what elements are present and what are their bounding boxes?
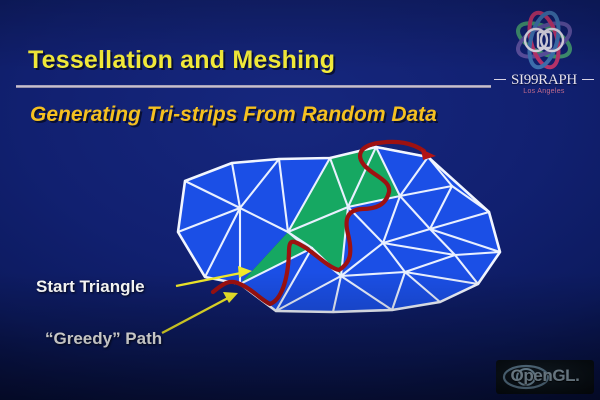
opengl-logo: OpenGL. bbox=[496, 360, 594, 394]
siggraph-city: Los Angeles bbox=[492, 88, 596, 95]
slide-canvas: Tessellation and Meshing Generating Tri-… bbox=[0, 0, 600, 400]
siggraph-rings-icon bbox=[492, 8, 596, 78]
siggraph-logo: SI99RAPH Los Angeles bbox=[492, 8, 596, 106]
opengl-wordmark: OpenGL. bbox=[496, 366, 594, 386]
callout-start-triangle: Start Triangle bbox=[36, 277, 145, 297]
siggraph-wordmark: SI99RAPH bbox=[492, 72, 596, 89]
callout-greedy-path: “Greedy” Path bbox=[45, 329, 162, 349]
